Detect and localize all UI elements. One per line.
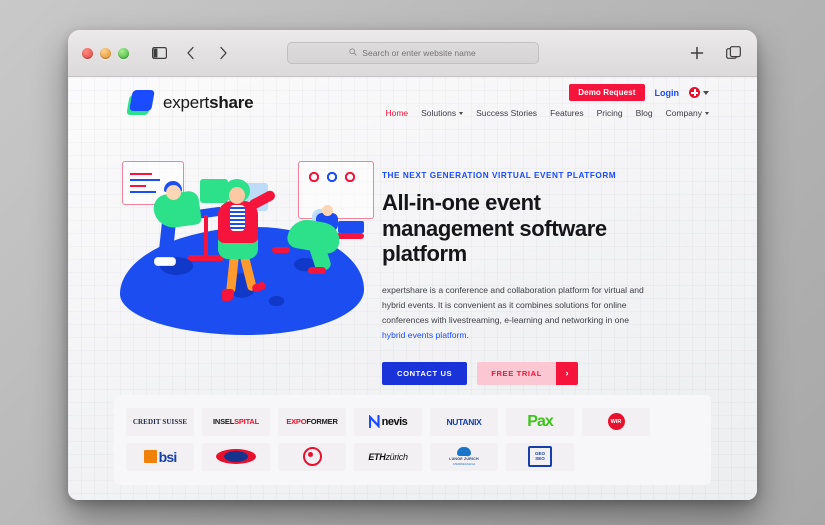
login-link[interactable]: Login: [655, 88, 680, 98]
client-logo-credit-suisse[interactable]: CREDIT SUISSE: [126, 408, 194, 436]
client-logo-circle-brand[interactable]: [278, 443, 346, 471]
chevron-left-icon[interactable]: [181, 43, 201, 63]
oval-brand-icon: [216, 449, 256, 464]
nav-item-success-stories[interactable]: Success Stories: [476, 108, 537, 118]
nutanix-wordmark: NUTANIX: [446, 417, 481, 427]
browser-titlebar: Search or enter website name: [68, 30, 757, 77]
nav-item-solutions[interactable]: Solutions: [421, 108, 463, 118]
swiss-flag-icon: [689, 87, 700, 98]
contact-us-button[interactable]: CONTACT US: [382, 362, 467, 385]
demo-request-button[interactable]: Demo Request: [569, 84, 644, 101]
address-bar[interactable]: Search or enter website name: [287, 42, 539, 64]
stand-pole-graphic: [204, 215, 208, 257]
copy-tabs-icon[interactable]: [723, 43, 743, 63]
expoformer-wordmark: EXPOFORMER: [286, 417, 337, 426]
analytics-panel-graphic: [298, 161, 374, 219]
person-right-laptop: [338, 221, 364, 233]
language-switcher[interactable]: [689, 87, 709, 98]
person-center-shoe-1: [222, 289, 234, 301]
client-logo-nevis[interactable]: nevis: [354, 408, 422, 436]
wir-mark-icon: WIR: [608, 413, 625, 430]
hero-cta-group: CONTACT US FREE TRIAL ›: [382, 362, 709, 385]
minimize-window-button[interactable]: [100, 48, 111, 59]
client-logo-inselspital[interactable]: INSELSPITAL: [202, 408, 270, 436]
main-navigation: Home Solutions Success Stories Features …: [385, 108, 709, 118]
inselspital-wordmark: INSELSPITAL: [213, 417, 259, 426]
person-left-head: [166, 185, 181, 200]
expertshare-logo-icon: [126, 89, 154, 117]
chevron-right-icon: ›: [556, 362, 578, 385]
nav-item-home[interactable]: Home: [385, 108, 408, 118]
circle-brand-icon: [303, 447, 322, 466]
client-logo-lunge-zurich[interactable]: LUNGE ZÜRICH ATEMWEGSLIGA: [430, 443, 498, 471]
lunge-zurich-wordmark: LUNGE ZÜRICH ATEMWEGSLIGA: [449, 447, 479, 466]
logo-prefix: expert: [163, 93, 209, 112]
eth-zurich-wordmark: ETHzürich: [368, 452, 407, 462]
header-utility-bar: Demo Request Login: [569, 84, 709, 101]
site-logo[interactable]: expertshare: [126, 89, 253, 117]
site-header: expertshare Demo Request Login Home Solu…: [68, 77, 757, 135]
close-window-button[interactable]: [82, 48, 93, 59]
credit-suisse-wordmark: CREDIT SUISSE: [133, 418, 187, 426]
person-reclining-shoe-1: [308, 267, 326, 274]
browser-window: Search or enter website name expertshare…: [68, 30, 757, 500]
geo-seo-badge-icon: GEO SEO: [528, 446, 552, 467]
nevis-wordmark: nevis: [369, 415, 408, 428]
client-logo-wir[interactable]: WIR: [582, 408, 650, 436]
client-logo-nutanix[interactable]: NUTANIX: [430, 408, 498, 436]
zoom-window-button[interactable]: [118, 48, 129, 59]
chevron-down-icon: [705, 112, 709, 115]
client-logos-section: CREDIT SUISSE INSELSPITAL EXPOFORMER nev…: [114, 395, 711, 485]
client-logos-row-2: bsi ETHzürich LUNGE ZÜRICH ATEMWEGSLI: [126, 443, 699, 471]
logo-suffix: share: [209, 93, 253, 112]
bsi-mark-icon: [144, 450, 157, 463]
free-trial-button[interactable]: FREE TRIAL ›: [477, 362, 578, 385]
hero-illustration: [112, 149, 372, 339]
client-logo-bsi[interactable]: bsi: [126, 443, 194, 471]
bsi-wordmark: bsi: [144, 449, 177, 465]
nav-item-pricing[interactable]: Pricing: [597, 108, 623, 118]
client-logo-oval-brand[interactable]: [202, 443, 270, 471]
pax-wordmark: Pax: [527, 413, 552, 431]
chevron-down-icon: [703, 91, 709, 95]
search-icon: [349, 48, 357, 58]
free-trial-label: FREE TRIAL: [477, 362, 556, 385]
client-logo-expoformer[interactable]: EXPOFORMER: [278, 408, 346, 436]
plus-icon[interactable]: [687, 43, 707, 63]
person-reclining-shoe-2: [272, 247, 290, 253]
hero-section: THE NEXT GENERATION VIRTUAL EVENT PLATFO…: [68, 135, 757, 385]
address-bar-placeholder: Search or enter website name: [362, 48, 475, 58]
webpage-viewport: expertshare Demo Request Login Home Solu…: [68, 77, 757, 500]
nav-item-features[interactable]: Features: [550, 108, 584, 118]
person-center-shirt: [230, 205, 245, 231]
hero-description: expertshare is a conference and collabor…: [382, 283, 654, 344]
person-left-shoe: [154, 257, 176, 266]
person-center-head: [229, 187, 245, 204]
nevis-mark-icon: [369, 415, 380, 428]
hybrid-events-platform-link[interactable]: hybrid events platform: [382, 330, 467, 340]
stand-base-graphic: [188, 255, 224, 261]
lungs-icon: [457, 447, 471, 456]
client-logos-row-1: CREDIT SUISSE INSELSPITAL EXPOFORMER nev…: [126, 408, 699, 436]
window-controls[interactable]: [82, 48, 129, 59]
hero-eyebrow: THE NEXT GENERATION VIRTUAL EVENT PLATFO…: [382, 171, 709, 180]
nav-item-company[interactable]: Company: [666, 108, 709, 118]
client-logo-geo-seo[interactable]: GEO SEO: [506, 443, 574, 471]
client-logo-eth-zurich[interactable]: ETHzürich: [354, 443, 422, 471]
hero-copy: THE NEXT GENERATION VIRTUAL EVENT PLATFO…: [382, 149, 709, 385]
sidebar-icon[interactable]: [149, 43, 169, 63]
site-logo-text: expertshare: [163, 93, 253, 113]
hero-description-end: .: [467, 330, 469, 340]
hero-description-text: expertshare is a conference and collabor…: [382, 285, 644, 326]
chevron-right-icon[interactable]: [213, 43, 233, 63]
person-right-head: [322, 205, 333, 216]
chevron-down-icon: [459, 112, 463, 115]
client-logo-pax[interactable]: Pax: [506, 408, 574, 436]
nav-item-blog[interactable]: Blog: [636, 108, 653, 118]
page-title: All-in-one event management software pla…: [382, 190, 632, 267]
